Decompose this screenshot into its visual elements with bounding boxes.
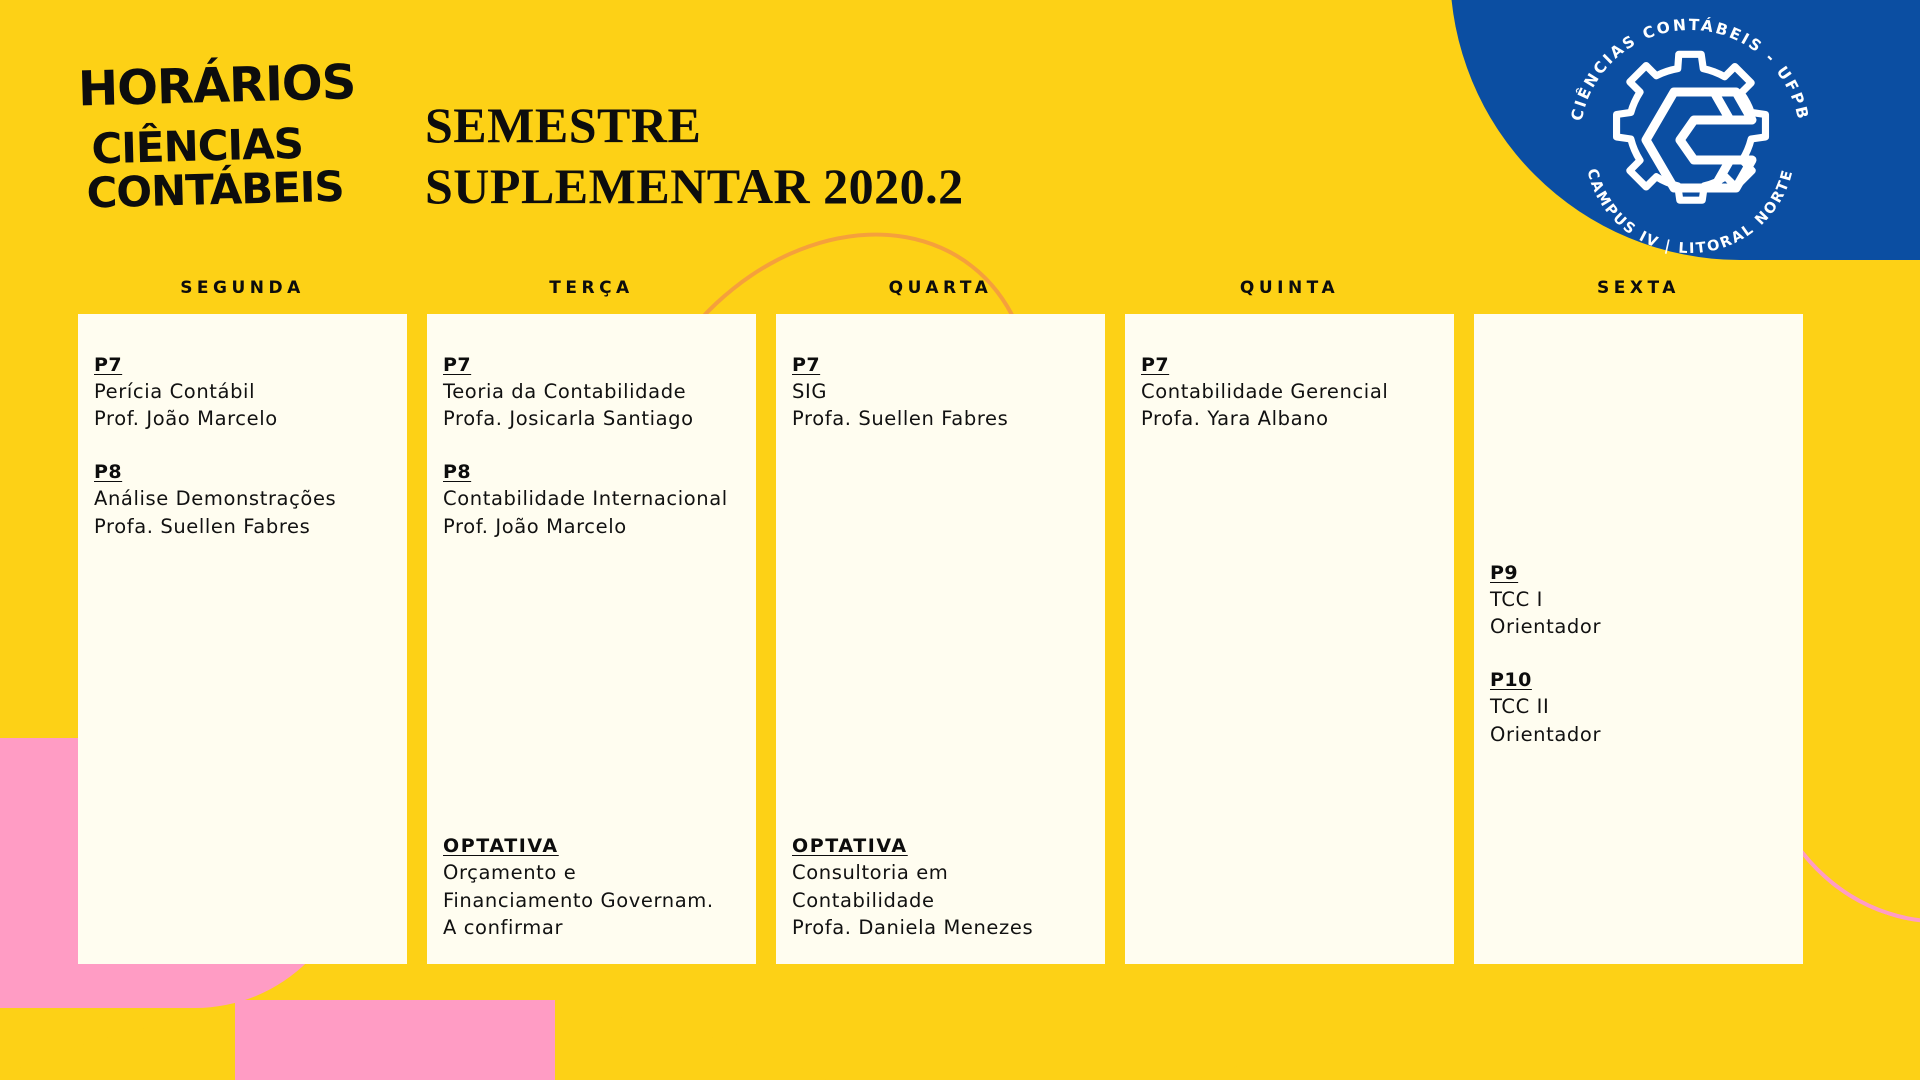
period-label: OPTATIVA [792, 835, 908, 859]
subject-name-cont: Financiamento Governam. [443, 887, 740, 915]
subject-name: Teoria da Contabilidade [443, 378, 740, 406]
subject-name: Contabilidade Internacional [443, 485, 740, 513]
day-header: SEGUNDA [78, 278, 407, 298]
teacher-name: Orientador [1490, 721, 1787, 749]
class-entry: OPTATIVA Consultoria emContabilidadeProf… [792, 835, 1089, 942]
period-label: P8 [443, 461, 471, 485]
svg-text:CAMPUS IV | LITORAL NORTE: CAMPUS IV | LITORAL NORTE [1583, 167, 1796, 257]
subject-name: SIG [792, 378, 1089, 406]
entries-top: P7Teoria da ContabilidadeProfa. Josicarl… [443, 354, 740, 568]
day-header: SEXTA [1474, 278, 1803, 298]
teacher-name: Profa. Daniela Menezes [792, 914, 1089, 942]
teacher-name: Profa. Suellen Fabres [94, 513, 391, 541]
day-card-body: P7Perícia ContábilProf. João MarceloP8An… [94, 354, 391, 964]
class-entry: P7SIGProfa. Suellen Fabres [792, 354, 1089, 433]
teacher-name: Profa. Yara Albano [1141, 405, 1438, 433]
badge-logo-wrap: CIÊNCIAS CONTÁBEIS - UFPB CAMPUS IV | LI… [1450, 0, 1920, 260]
subject-name: TCC I [1490, 586, 1787, 614]
period-label: OPTATIVA [443, 835, 559, 859]
teacher-name: Profa. Josicarla Santiago [443, 405, 740, 433]
period-label: P7 [94, 354, 122, 378]
period-label: P9 [1490, 562, 1518, 586]
poster-canvas: CIÊNCIAS CONTÁBEIS - UFPB CAMPUS IV | LI… [0, 0, 1920, 1080]
subject-name: TCC II [1490, 693, 1787, 721]
title-contabeis: CONTÁBEIS [86, 165, 349, 216]
subject-name: Contabilidade Gerencial [1141, 378, 1438, 406]
class-entry: P7Teoria da ContabilidadeProfa. Josicarl… [443, 354, 740, 433]
semester-line-2: SUPLEMENTAR 2020.2 [425, 156, 964, 217]
schedule-grid: SEGUNDAP7Perícia ContábilProf. João Marc… [78, 278, 1803, 964]
period-label: P7 [792, 354, 820, 378]
subject-name-cont: Contabilidade [792, 887, 1089, 915]
entries-bottom: OPTATIVA Orçamento eFinanciamento Govern… [443, 835, 740, 964]
entries-bottom: OPTATIVA Consultoria emContabilidadeProf… [792, 835, 1089, 964]
pink-blob-bottom [235, 1000, 555, 1080]
badge-bottom-text: CAMPUS IV | LITORAL NORTE [1583, 167, 1796, 257]
day-card: P7Perícia ContábilProf. João MarceloP8An… [78, 314, 407, 964]
subject-name: Perícia Contábil [94, 378, 391, 406]
day-header: QUARTA [776, 278, 1105, 298]
class-entry: P8Contabilidade InternacionalProf. João … [443, 461, 740, 540]
class-entry: OPTATIVA Orçamento eFinanciamento Govern… [443, 835, 740, 942]
teacher-name: Profa. Suellen Fabres [792, 405, 1089, 433]
day-card: P7Teoria da ContabilidadeProfa. Josicarl… [427, 314, 756, 964]
entries-top: P7Contabilidade GerencialProfa. Yara Alb… [1141, 354, 1438, 461]
day-card-body: P7Teoria da ContabilidadeProfa. Josicarl… [443, 354, 740, 964]
teacher-name: Prof. João Marcelo [443, 513, 740, 541]
period-label: P8 [94, 461, 122, 485]
entries-top: P9TCC IOrientadorP10TCC IIOrientador [1490, 354, 1787, 776]
day-header: QUINTA [1125, 278, 1454, 298]
day-column-quinta: QUINTAP7Contabilidade GerencialProfa. Ya… [1125, 278, 1454, 964]
subject-name: Consultoria em [792, 859, 1089, 887]
teacher-name: Orientador [1490, 613, 1787, 641]
yellow-arc-decoration-right [1020, 1018, 1920, 1080]
period-label: P10 [1490, 669, 1532, 693]
day-card: P9TCC IOrientadorP10TCC IIOrientador [1474, 314, 1803, 964]
entries-top: P7SIGProfa. Suellen Fabres [792, 354, 1089, 461]
class-entry: P9TCC IOrientador [1490, 562, 1787, 641]
yellow-arc-decoration [0, 1000, 940, 1080]
day-header: TERÇA [427, 278, 756, 298]
day-card: P7Contabilidade GerencialProfa. Yara Alb… [1125, 314, 1454, 964]
class-entry: P7Contabilidade GerencialProfa. Yara Alb… [1141, 354, 1438, 433]
teacher-name: A confirmar [443, 914, 740, 942]
day-column-quarta: QUARTAP7SIGProfa. Suellen FabresOPTATIVA… [776, 278, 1105, 964]
subject-name: Análise Demonstrações [94, 485, 391, 513]
class-entry: P7Perícia ContábilProf. João Marcelo [94, 354, 391, 433]
class-entry: P10TCC IIOrientador [1490, 669, 1787, 748]
entries-top: P7Perícia ContábilProf. João MarceloP8An… [94, 354, 391, 568]
period-label: P7 [1141, 354, 1169, 378]
period-label: P7 [443, 354, 471, 378]
day-column-terça: TERÇAP7Teoria da ContabilidadeProfa. Jos… [427, 278, 756, 964]
svg-text:CIÊNCIAS CONTÁBEIS - UFPB: CIÊNCIAS CONTÁBEIS - UFPB [1568, 15, 1813, 122]
teacher-name: Prof. João Marcelo [94, 405, 391, 433]
title-course: CIÊNCIAS CONTÁBEIS [91, 121, 349, 216]
title-horarios: HORÁRIOS [77, 58, 348, 113]
subject-name: Orçamento e [443, 859, 740, 887]
day-card-body: P7Contabilidade GerencialProfa. Yara Alb… [1141, 354, 1438, 964]
gear-logo-icon: CIÊNCIAS CONTÁBEIS - UFPB CAMPUS IV | LI… [1450, 0, 1920, 260]
page-title: HORÁRIOS CIÊNCIAS CONTÁBEIS [78, 62, 348, 212]
day-card-body: P9TCC IOrientadorP10TCC IIOrientador [1490, 354, 1787, 964]
day-column-sexta: SEXTAP9TCC IOrientadorP10TCC IIOrientado… [1474, 278, 1803, 964]
day-card-body: P7SIGProfa. Suellen FabresOPTATIVA Consu… [792, 354, 1089, 964]
semester-heading: SEMESTRE SUPLEMENTAR 2020.2 [425, 95, 964, 217]
day-column-segunda: SEGUNDAP7Perícia ContábilProf. João Marc… [78, 278, 407, 964]
class-entry: P8Análise DemonstraçõesProfa. Suellen Fa… [94, 461, 391, 540]
badge-top-text: CIÊNCIAS CONTÁBEIS - UFPB [1568, 15, 1813, 122]
day-card: P7SIGProfa. Suellen FabresOPTATIVA Consu… [776, 314, 1105, 964]
semester-line-1: SEMESTRE [425, 95, 964, 156]
